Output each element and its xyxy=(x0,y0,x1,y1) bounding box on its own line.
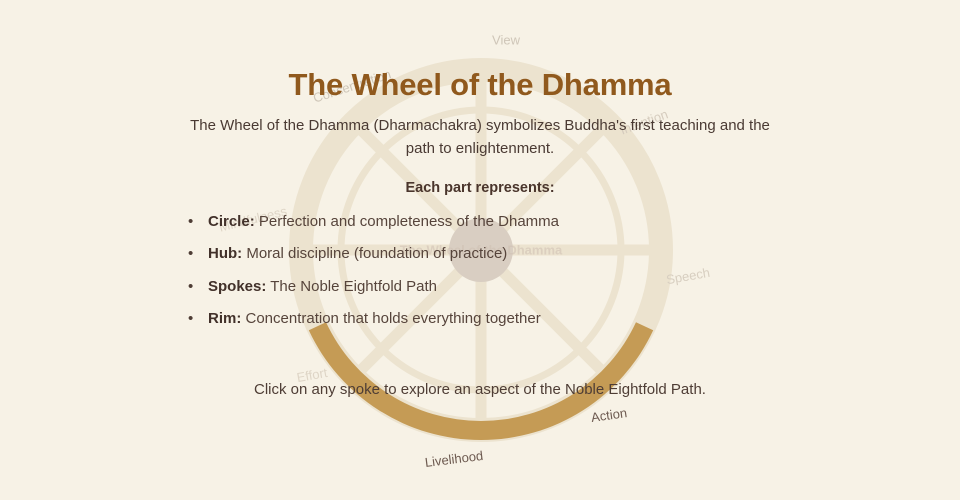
page-title: The Wheel of the Dhamma xyxy=(0,67,960,103)
wheel-parts-list: •Circle: Perfection and completeness of … xyxy=(180,212,800,341)
bullet-icon: • xyxy=(188,212,193,232)
wheel-part-term: Rim: xyxy=(208,310,241,327)
wheel-part-item: •Spokes: The Noble Eightfold Path xyxy=(180,277,800,297)
wheel-part-description: The Noble Eightfold Path xyxy=(266,278,437,295)
each-part-represents-heading: Each part represents: xyxy=(0,180,960,196)
bullet-icon: • xyxy=(188,277,193,297)
wheel-part-term: Spokes: xyxy=(208,278,266,295)
click-spoke-hint: Click on any spoke to explore an aspect … xyxy=(0,381,960,398)
wheel-part-item: •Hub: Moral discipline (foundation of pr… xyxy=(180,244,800,264)
wheel-part-item: •Circle: Perfection and completeness of … xyxy=(180,212,800,232)
wheel-of-dhamma-page: The Wheel of the Dhamma ViewIntentionSpe… xyxy=(0,0,960,500)
wheel-part-term: Hub: xyxy=(208,245,242,262)
intro-paragraph: The Wheel of the Dhamma (Dharmachakra) s… xyxy=(180,115,780,160)
wheel-part-item: •Rim: Concentration that holds everythin… xyxy=(180,309,800,329)
bullet-icon: • xyxy=(188,309,193,329)
wheel-part-description: Perfection and completeness of the Dhamm… xyxy=(255,213,559,230)
wheel-part-description: Concentration that holds everything toge… xyxy=(241,310,540,327)
wheel-part-description: Moral discipline (foundation of practice… xyxy=(242,245,507,262)
wheel-part-term: Circle: xyxy=(208,213,255,230)
bullet-icon: • xyxy=(188,244,193,264)
content-layer: The Wheel of the Dhamma The Wheel of the… xyxy=(0,0,960,500)
